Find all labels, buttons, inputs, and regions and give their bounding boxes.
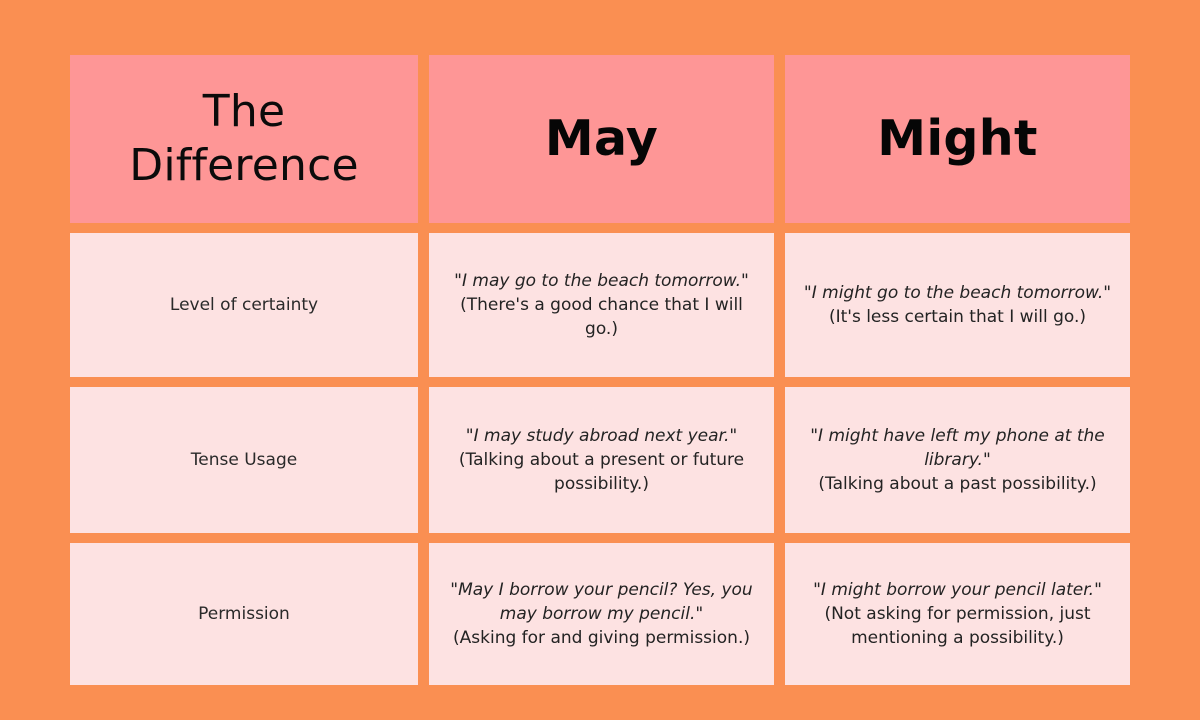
row-label-cell-2: Permission bbox=[70, 543, 418, 685]
comparison-table: The Difference May Might Level of certai… bbox=[70, 55, 1130, 665]
example-note-may-2: (Asking for and giving permission.) bbox=[443, 626, 760, 650]
row-label-text-2: Permission bbox=[198, 603, 290, 626]
row-label-cell-1: Tense Usage bbox=[70, 387, 418, 533]
example-note-may-1: (Talking about a present or future possi… bbox=[443, 448, 760, 496]
example-note-might-0: (It's less certain that I will go.) bbox=[804, 305, 1111, 329]
row-label-text-0: Level of certainty bbox=[170, 294, 318, 317]
example-quote-may-1: "I may study abroad next year." bbox=[443, 424, 760, 448]
corner-header-line2: Difference bbox=[129, 140, 359, 191]
cell-may-2: "May I borrow your pencil? Yes, you may … bbox=[429, 543, 774, 685]
example-quote-might-2: "I might borrow your pencil later." bbox=[799, 578, 1116, 602]
column-header-may: May bbox=[429, 55, 774, 223]
row-label-text-1: Tense Usage bbox=[191, 449, 297, 472]
table-corner-header: The Difference bbox=[70, 55, 418, 223]
example-note-might-2: (Not asking for permission, just mention… bbox=[799, 602, 1116, 650]
example-may-1: "I may study abroad next year." (Talking… bbox=[443, 424, 760, 496]
example-may-2: "May I borrow your pencil? Yes, you may … bbox=[443, 578, 760, 650]
example-quote-may-0: "I may go to the beach tomorrow." bbox=[443, 269, 760, 293]
example-quote-might-0: "I might go to the beach tomorrow." bbox=[804, 281, 1111, 305]
example-might-2: "I might borrow your pencil later." (Not… bbox=[799, 578, 1116, 650]
column-header-may-label: May bbox=[545, 112, 658, 166]
example-may-0: "I may go to the beach tomorrow." (There… bbox=[443, 269, 760, 341]
cell-might-0: "I might go to the beach tomorrow." (It'… bbox=[785, 233, 1130, 377]
example-might-1: "I might have left my phone at the libra… bbox=[799, 424, 1116, 496]
column-header-might-label: Might bbox=[877, 112, 1037, 166]
cell-might-2: "I might borrow your pencil later." (Not… bbox=[785, 543, 1130, 685]
column-header-might: Might bbox=[785, 55, 1130, 223]
corner-header-text: The Difference bbox=[129, 85, 359, 192]
row-label-cell-0: Level of certainty bbox=[70, 233, 418, 377]
cell-may-0: "I may go to the beach tomorrow." (There… bbox=[429, 233, 774, 377]
slide-canvas: The Difference May Might Level of certai… bbox=[0, 0, 1200, 720]
example-note-might-1: (Talking about a past possibility.) bbox=[799, 472, 1116, 496]
corner-header-line1: The bbox=[203, 86, 285, 137]
example-note-may-0: (There's a good chance that I will go.) bbox=[443, 293, 760, 341]
example-might-0: "I might go to the beach tomorrow." (It'… bbox=[804, 281, 1111, 329]
example-quote-may-2: "May I borrow your pencil? Yes, you may … bbox=[443, 578, 760, 626]
cell-might-1: "I might have left my phone at the libra… bbox=[785, 387, 1130, 533]
example-quote-might-1: "I might have left my phone at the libra… bbox=[799, 424, 1116, 472]
cell-may-1: "I may study abroad next year." (Talking… bbox=[429, 387, 774, 533]
